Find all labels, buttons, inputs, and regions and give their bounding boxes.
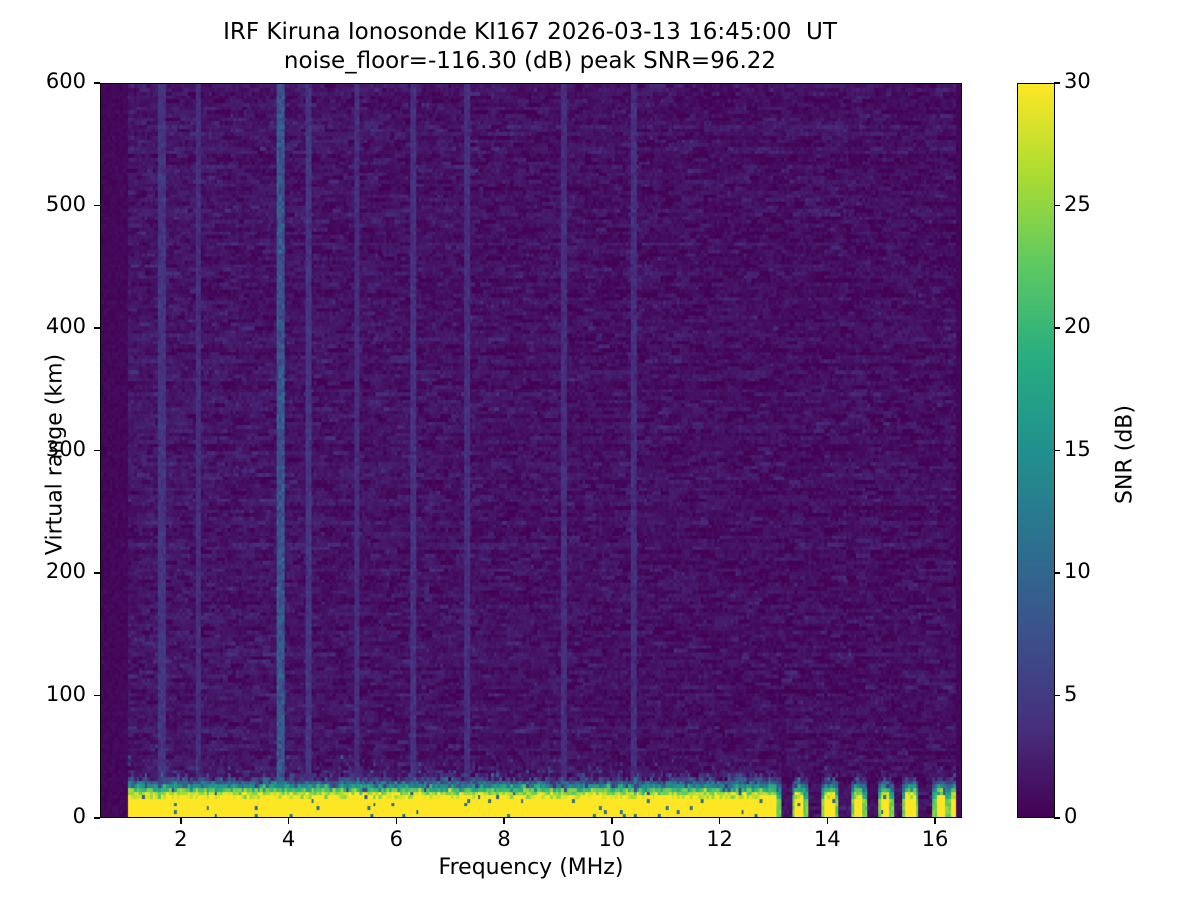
colorbar-tick-mark (1054, 205, 1060, 207)
y-tick-mark (94, 327, 100, 329)
x-tick-mark (288, 818, 290, 824)
y-tick-label: 100 (16, 682, 86, 706)
y-tick-mark (94, 695, 100, 697)
ionogram-figure: IRF Kiruna Ionosonde KI167 2026-03-13 16… (0, 0, 1200, 900)
title-line-2: noise_floor=-116.30 (dB) peak SNR=96.22 (0, 47, 1060, 76)
x-tick-mark (180, 818, 182, 824)
y-tick-mark (94, 205, 100, 207)
y-tick-mark (94, 572, 100, 574)
colorbar-tick-mark (1054, 327, 1060, 329)
x-tick-mark (719, 818, 721, 824)
colorbar-tick-mark (1054, 817, 1060, 819)
y-tick-label: 0 (16, 804, 86, 828)
ionogram-heatmap (101, 84, 961, 817)
y-tick-label: 600 (16, 69, 86, 93)
x-tick-mark (611, 818, 613, 824)
x-tick-label: 10 (577, 827, 647, 851)
y-tick-mark (94, 450, 100, 452)
x-tick-label: 8 (469, 827, 539, 851)
colorbar-tick-label: 5 (1064, 682, 1124, 706)
colorbar (1017, 83, 1055, 818)
x-tick-mark (503, 818, 505, 824)
colorbar-tick-label: 0 (1064, 804, 1124, 828)
x-tick-mark (396, 818, 398, 824)
x-tick-label: 14 (792, 827, 862, 851)
y-tick-mark (94, 817, 100, 819)
x-tick-mark (934, 818, 936, 824)
x-axis-label: Frequency (MHz) (100, 855, 962, 880)
figure-title: IRF Kiruna Ionosonde KI167 2026-03-13 16… (0, 18, 1060, 77)
colorbar-tick-label: 30 (1064, 69, 1124, 93)
ionogram-plot-area (100, 83, 962, 818)
x-tick-label: 4 (254, 827, 324, 851)
title-line-1: IRF Kiruna Ionosonde KI167 2026-03-13 16… (0, 18, 1060, 47)
x-tick-label: 2 (146, 827, 216, 851)
y-tick-label: 500 (16, 192, 86, 216)
x-tick-mark (827, 818, 829, 824)
x-tick-label: 6 (361, 827, 431, 851)
colorbar-tick-mark (1054, 450, 1060, 452)
colorbar-tick-mark (1054, 82, 1060, 84)
x-tick-label: 16 (900, 827, 970, 851)
colorbar-label: SNR (dB) (1113, 305, 1138, 605)
x-tick-label: 12 (685, 827, 755, 851)
colorbar-tick-mark (1054, 572, 1060, 574)
colorbar-gradient (1018, 84, 1054, 817)
y-axis-label: Virtual range (km) (43, 305, 68, 605)
colorbar-tick-mark (1054, 695, 1060, 697)
y-tick-mark (94, 82, 100, 84)
colorbar-tick-label: 25 (1064, 192, 1124, 216)
